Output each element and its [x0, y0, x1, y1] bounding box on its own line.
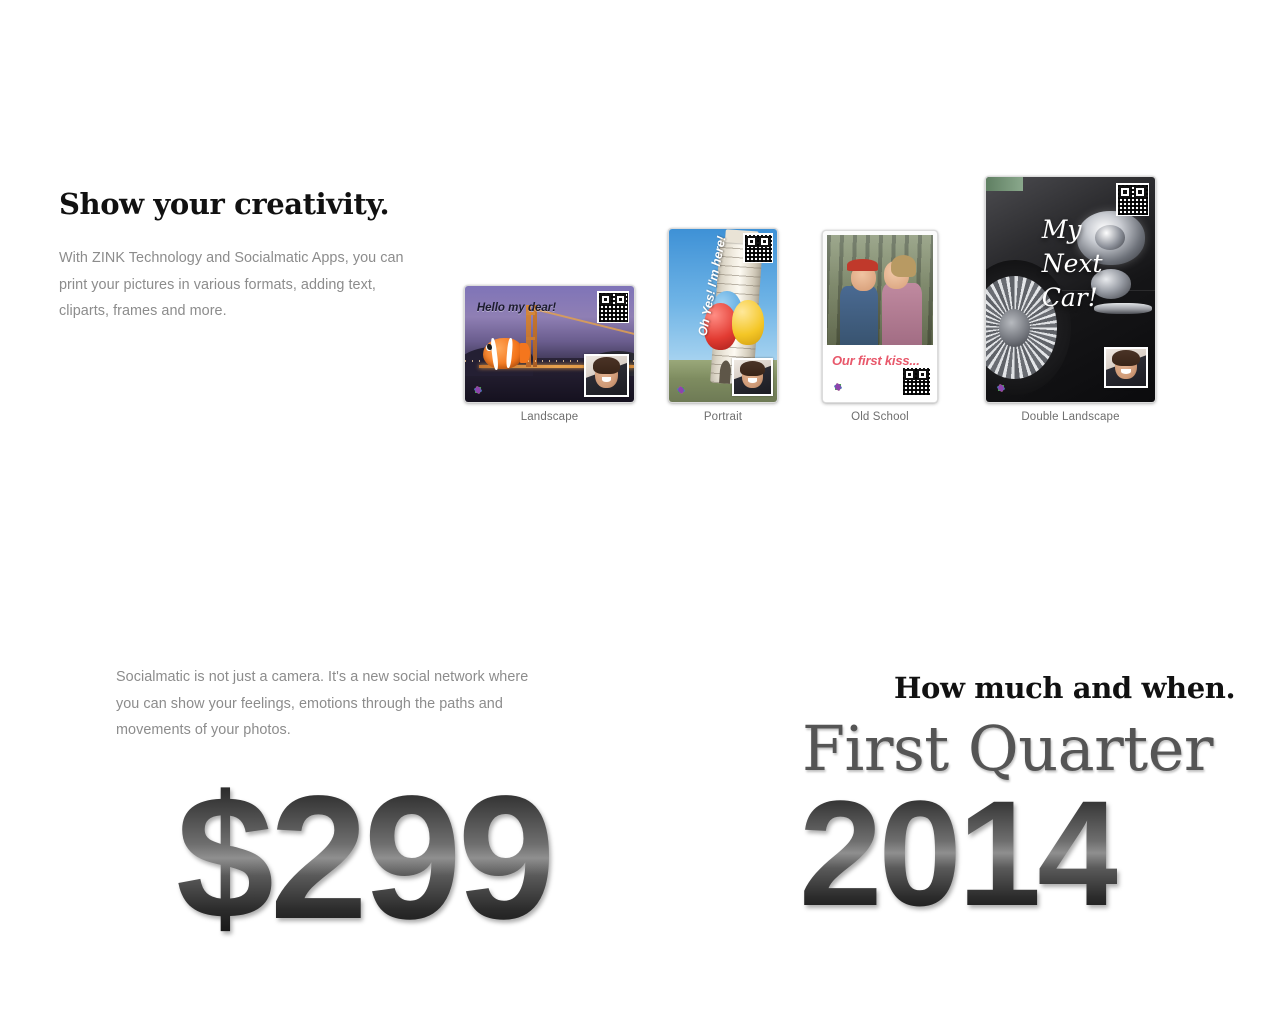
scene-wheel-hub — [999, 309, 1030, 347]
pricing-heading: How much and when. — [894, 671, 1235, 705]
card-artwork-landscape: Hello my dear! — [465, 286, 634, 402]
selfie-thumbnail[interactable] — [584, 354, 629, 397]
photo-card-caption-landscape: Landscape — [464, 411, 635, 423]
balloon-yellow — [732, 300, 764, 345]
qr-code-icon[interactable] — [901, 366, 931, 396]
card-artwork-double-landscape: My Next Car! — [986, 177, 1155, 402]
photo-card-landscape[interactable]: Hello my dear! — [464, 285, 635, 403]
card-artwork-old-school: Our first kiss... — [823, 231, 937, 402]
photo-card-caption-portrait: Portrait — [663, 411, 783, 423]
qr-code-icon[interactable] — [597, 291, 629, 323]
scene-door-handle — [1094, 303, 1151, 314]
photo-card-portrait[interactable]: Oh Yes! I'm here! — [668, 228, 778, 403]
photo-card-old-school[interactable]: Our first kiss... — [822, 230, 938, 403]
availability-year-value: 2014 — [799, 778, 1117, 928]
figure-girl-body — [882, 283, 922, 345]
selfie-thumbnail[interactable] — [732, 358, 773, 396]
qr-code-icon[interactable] — [743, 233, 773, 263]
photo-card-double-landscape[interactable]: My Next Car! — [985, 176, 1156, 403]
scene-background-sliver — [986, 177, 1023, 191]
creativity-body-text: With ZINK Technology and Socialmatic App… — [59, 245, 419, 325]
photo-card-caption-old-school: Old School — [820, 411, 940, 423]
selfie-thumbnail[interactable] — [1104, 347, 1148, 388]
figure-boy-body — [840, 286, 878, 345]
socialmatic-logo-icon — [673, 382, 688, 397]
figure-girl-hair — [891, 255, 916, 277]
qr-code-icon[interactable] — [1116, 183, 1149, 216]
creativity-heading: Show your creativity. — [59, 187, 389, 221]
polaroid-photo-area — [827, 235, 933, 345]
card-artwork-portrait: Oh Yes! I'm here! — [669, 229, 777, 402]
card-overlay-text-landscape: Hello my dear! — [477, 302, 556, 314]
socialmatic-logo-icon — [993, 380, 1008, 395]
card-overlay-text-double-landscape: My Next Car! — [1042, 213, 1103, 315]
socialmatic-logo-icon — [830, 379, 845, 394]
figure-boy-cap — [847, 259, 878, 271]
photo-card-caption-double-landscape: Double Landscape — [985, 411, 1156, 423]
creativity-section: Show your creativity. With ZINK Technolo… — [0, 0, 1280, 470]
social-network-body-text: Socialmatic is not just a camera. It's a… — [116, 664, 546, 744]
clownfish-clipart — [480, 330, 531, 376]
price-amount: $299 — [176, 770, 552, 946]
socialmatic-logo-icon — [470, 382, 485, 397]
